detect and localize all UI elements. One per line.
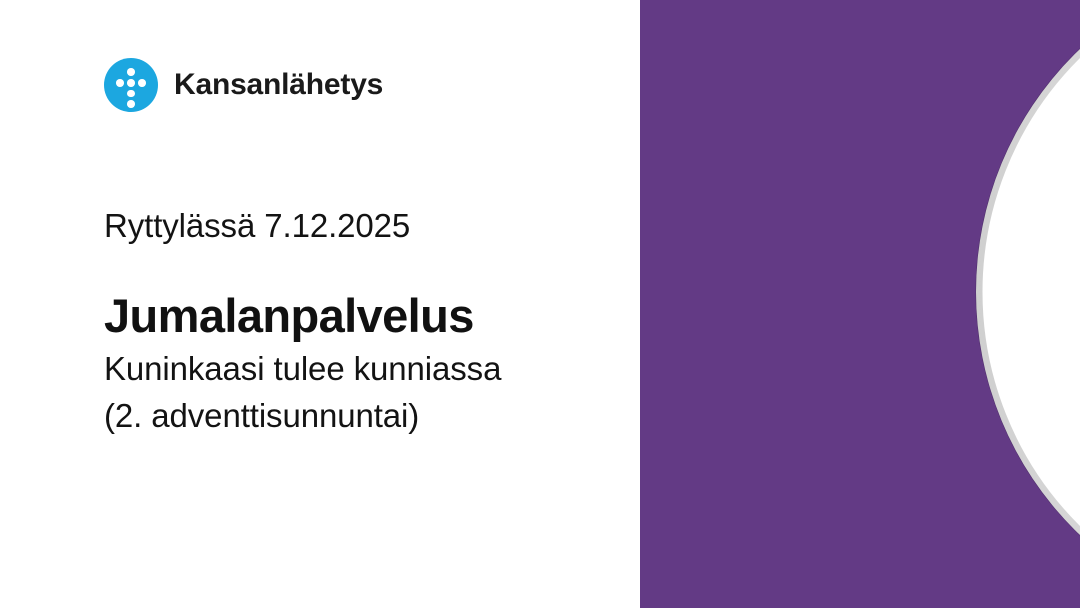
logo-dot xyxy=(138,79,146,87)
logo-dot xyxy=(127,68,135,76)
brand-lockup: Kansanlähetys xyxy=(104,58,383,112)
logo-dot xyxy=(127,100,135,108)
event-content: Ryttylässä 7.12.2025 Jumalanpalvelus Kun… xyxy=(104,206,864,440)
event-title: Jumalanpalvelus xyxy=(104,290,864,343)
logo-dot xyxy=(127,79,135,87)
dot-cross-circle-icon xyxy=(104,58,158,112)
event-subtitle-line-1: Kuninkaasi tulee kunniassa xyxy=(104,346,864,393)
event-place-and-date: Ryttylässä 7.12.2025 xyxy=(104,206,864,246)
logo-dot xyxy=(127,90,135,98)
event-subtitle-line-2: (2. adventtisunnuntai) xyxy=(104,393,864,440)
title-slide: Kansanlähetys Ryttylässä 7.12.2025 Jumal… xyxy=(0,0,1080,608)
logo-dot xyxy=(116,79,124,87)
brand-name: Kansanlähetys xyxy=(174,70,383,100)
